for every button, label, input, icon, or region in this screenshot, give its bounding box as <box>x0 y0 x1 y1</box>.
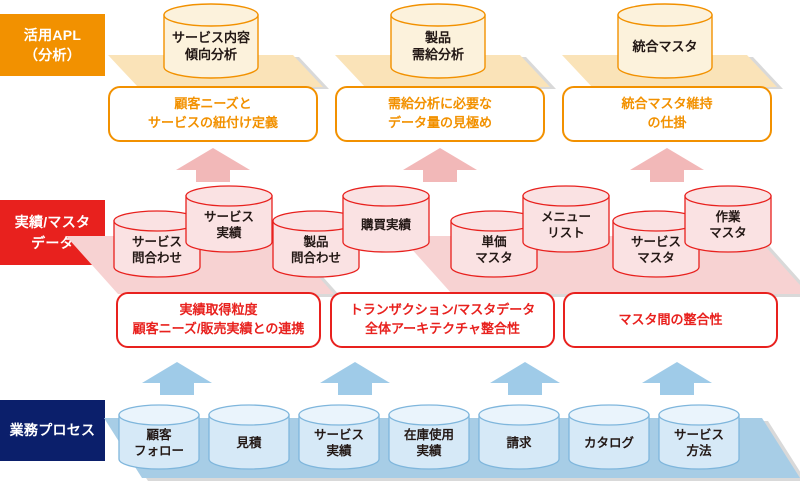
apl-cylinder-3: 統合マスタ <box>617 3 713 79</box>
blue-up-arrow-4 <box>642 362 712 395</box>
apl-cylinder-2: 製品 需給分析 <box>390 3 486 79</box>
apl-box-1[interactable]: 顧客ニーズと サービスの紐付け定義 <box>108 86 318 142</box>
process-cylinder-3: サービス 実績 <box>298 404 380 470</box>
data-cylinder-4: 購買実績 <box>342 185 430 253</box>
data-cylinder-6: メニュー リスト <box>522 185 610 253</box>
apl-cylinder-1: サービス内容 傾向分析 <box>163 3 259 79</box>
process-cylinder-7: サービス 方法 <box>658 404 740 470</box>
pink-up-arrow-3 <box>630 148 704 182</box>
blue-up-arrow-1 <box>142 362 212 395</box>
process-cylinder-1: 顧客 フォロー <box>118 404 200 470</box>
band-label-apl: 活用APL （分析） <box>0 14 105 76</box>
pink-up-arrow-2 <box>403 148 477 182</box>
pink-up-arrow-1 <box>176 148 250 182</box>
data-box-2[interactable]: トランザクション/マスタデータ 全体アーキテクチャ整合性 <box>330 292 555 348</box>
apl-box-2[interactable]: 需給分析に必要な データ量の見極め <box>335 86 545 142</box>
apl-box-3[interactable]: 統合マスタ維持 の仕掛 <box>562 86 772 142</box>
process-cylinder-2: 見積 <box>208 404 290 470</box>
data-box-3[interactable]: マスタ間の整合性 <box>563 292 778 348</box>
process-cylinder-4: 在庫使用 実績 <box>388 404 470 470</box>
process-cylinder-6: カタログ <box>568 404 650 470</box>
band-label-business-process: 業務プロセス <box>0 400 105 461</box>
data-cylinder-8: 作業 マスタ <box>684 185 772 253</box>
process-cylinder-5: 請求 <box>478 404 560 470</box>
data-cylinder-2: サービス 実績 <box>185 185 273 253</box>
blue-up-arrow-3 <box>490 362 560 395</box>
diagram-canvas: 活用APL （分析） 実績/マスタ データ 業務プロセス サービス内容 傾向分析 <box>0 0 800 490</box>
blue-up-arrow-2 <box>320 362 390 395</box>
data-box-1[interactable]: 実績取得粒度 顧客ニーズ/販売実績との連携 <box>116 292 321 348</box>
